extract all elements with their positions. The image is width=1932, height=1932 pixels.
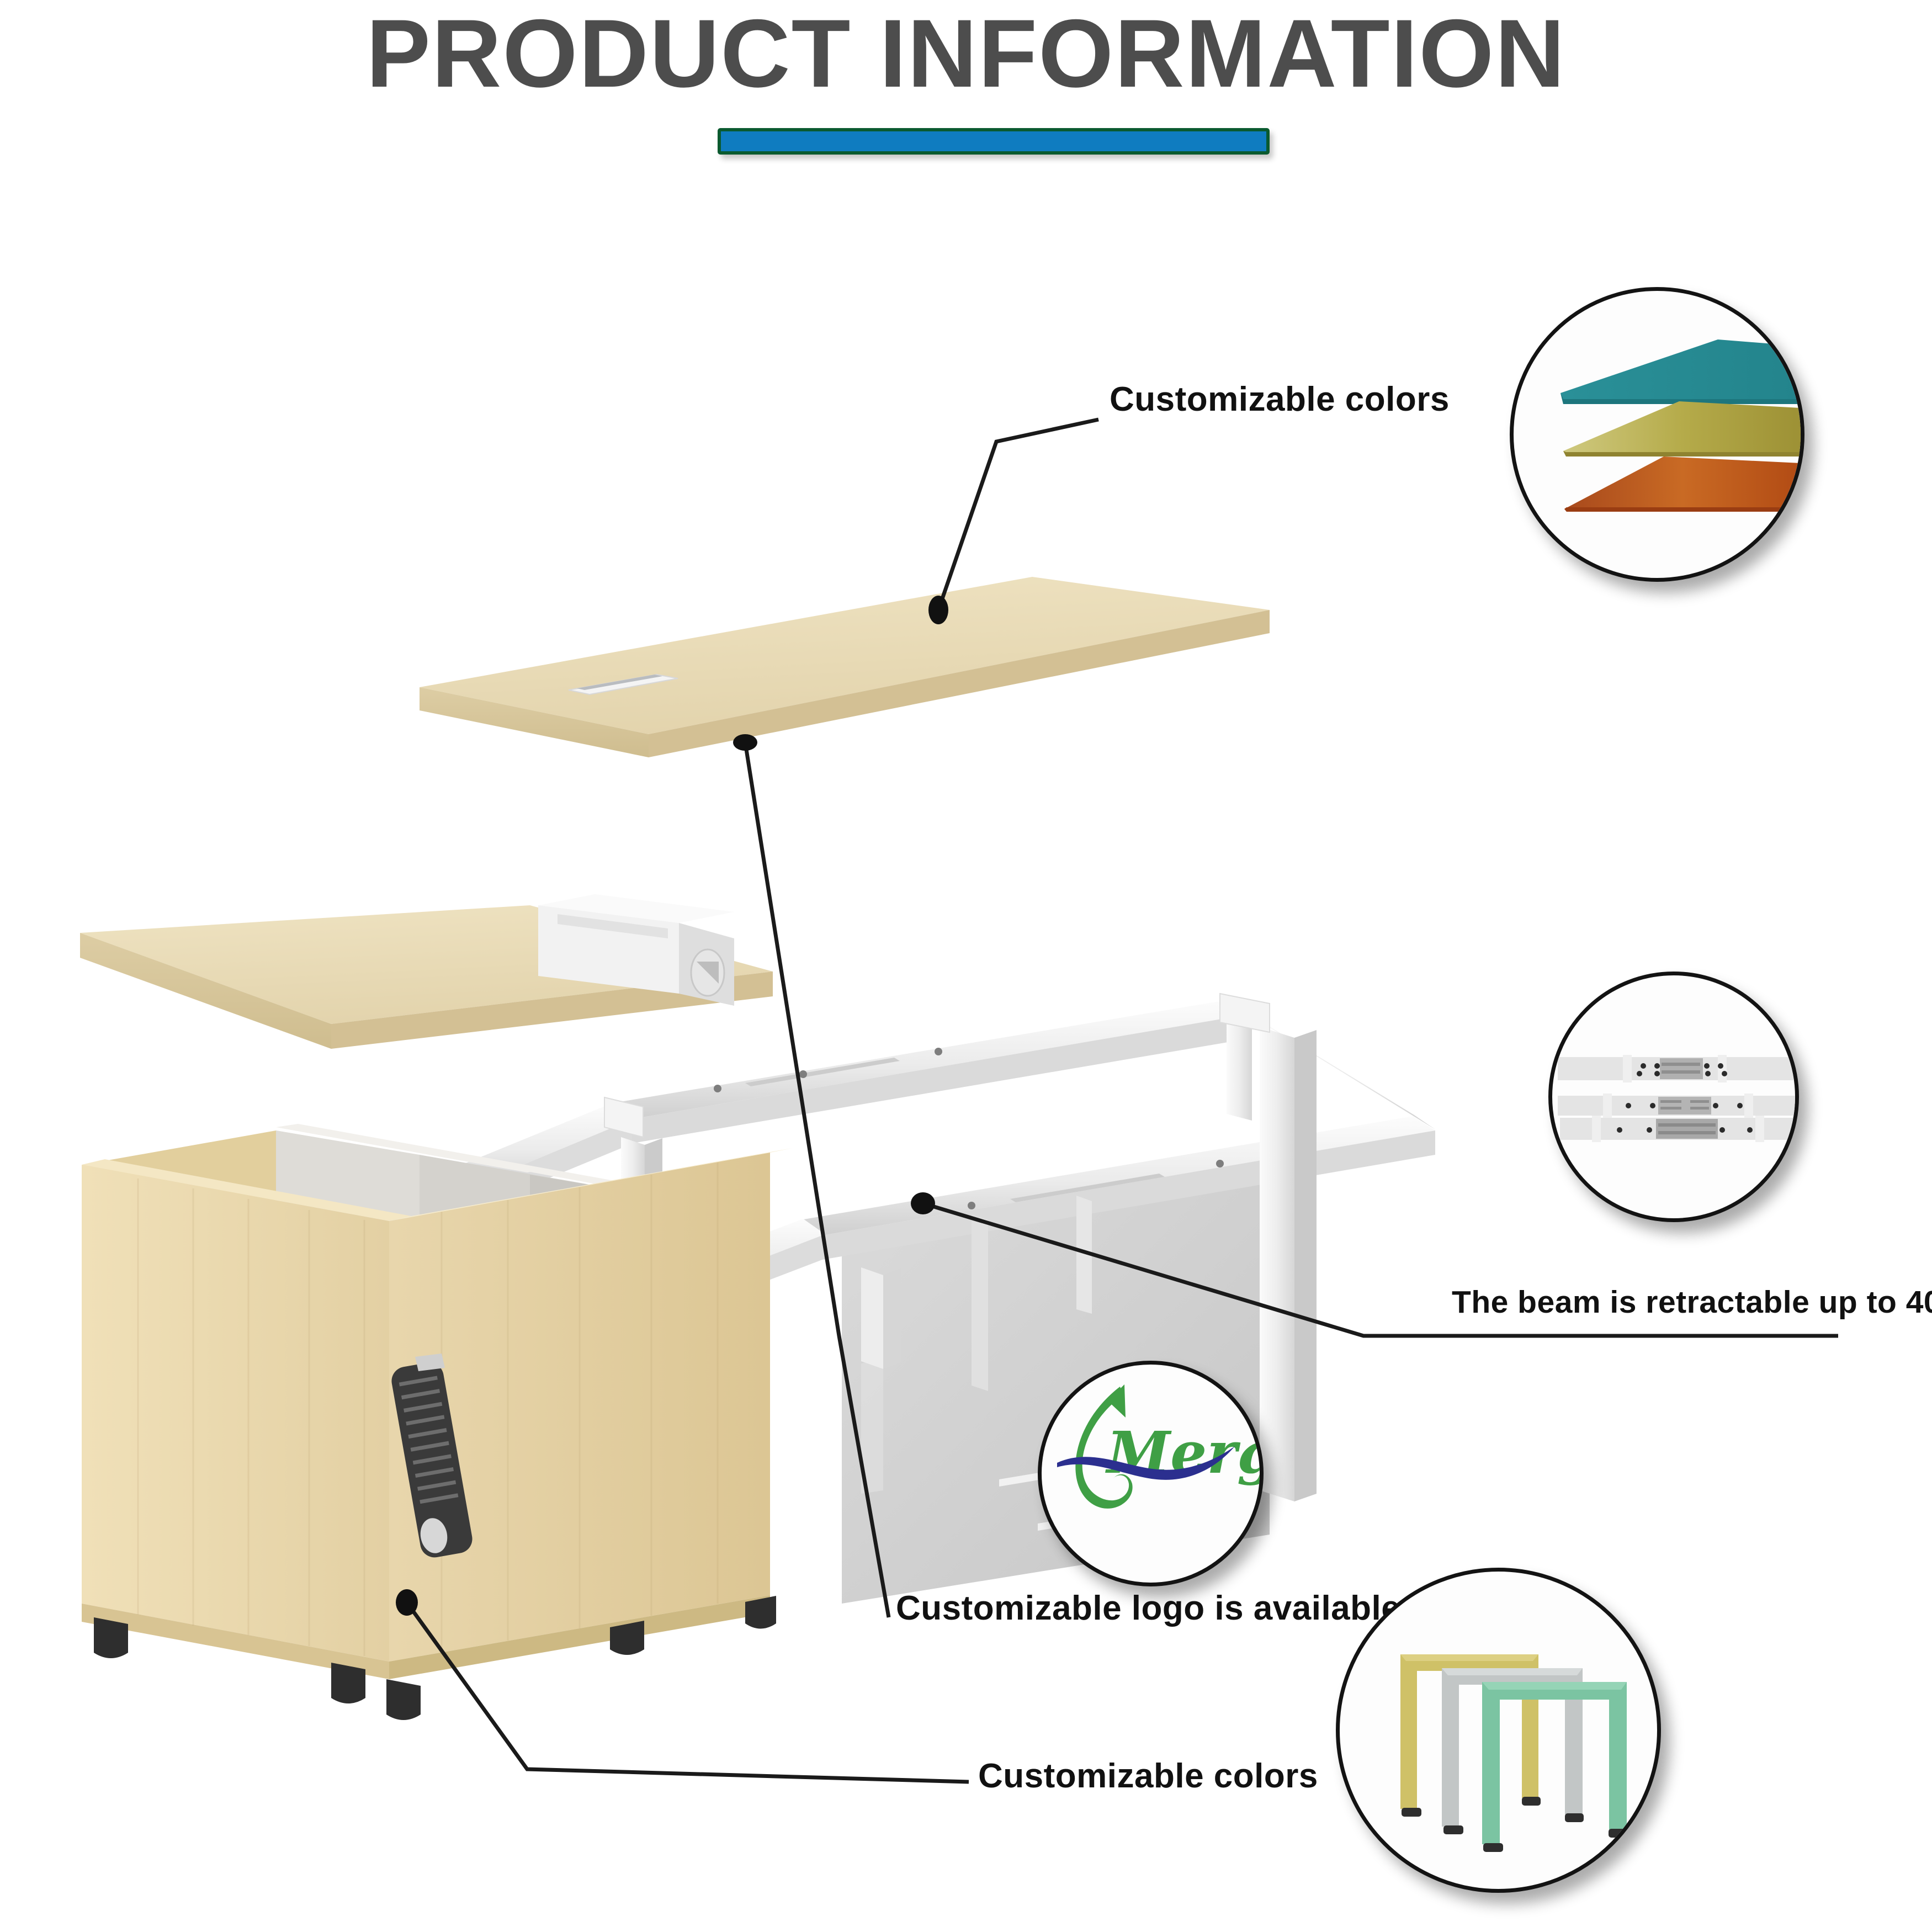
product-information-page: PRODUCT INFORMATION	[0, 0, 1932, 1932]
tabletop-part	[420, 577, 1270, 757]
callout-label-beam: The beam is retractable up to 400 mm	[1452, 1284, 1932, 1320]
callout-label-logo: Customizable logo is available	[896, 1589, 1400, 1628]
beam-rail-2	[1558, 1094, 1795, 1118]
bubble-brand-logo: Merge	[1038, 1361, 1264, 1586]
callout-label-top-colors: Customizable colors	[1110, 380, 1450, 419]
swatch-olive	[1563, 401, 1801, 457]
swatch-teal	[1561, 339, 1801, 404]
bubble-retractable-beam	[1548, 972, 1799, 1222]
callout-label-bottom-colors: Customizable colors	[978, 1756, 1318, 1796]
swatch-orange	[1564, 457, 1801, 512]
bubble-leg-frame-colors	[1336, 1568, 1661, 1893]
bubble-tabletop-colors	[1510, 287, 1804, 582]
beam-rail-3	[1560, 1116, 1795, 1142]
beam-rail-1	[1558, 1055, 1795, 1082]
storage-cabinet-part	[82, 1124, 792, 1720]
leg-frame-mint	[1482, 1682, 1627, 1852]
